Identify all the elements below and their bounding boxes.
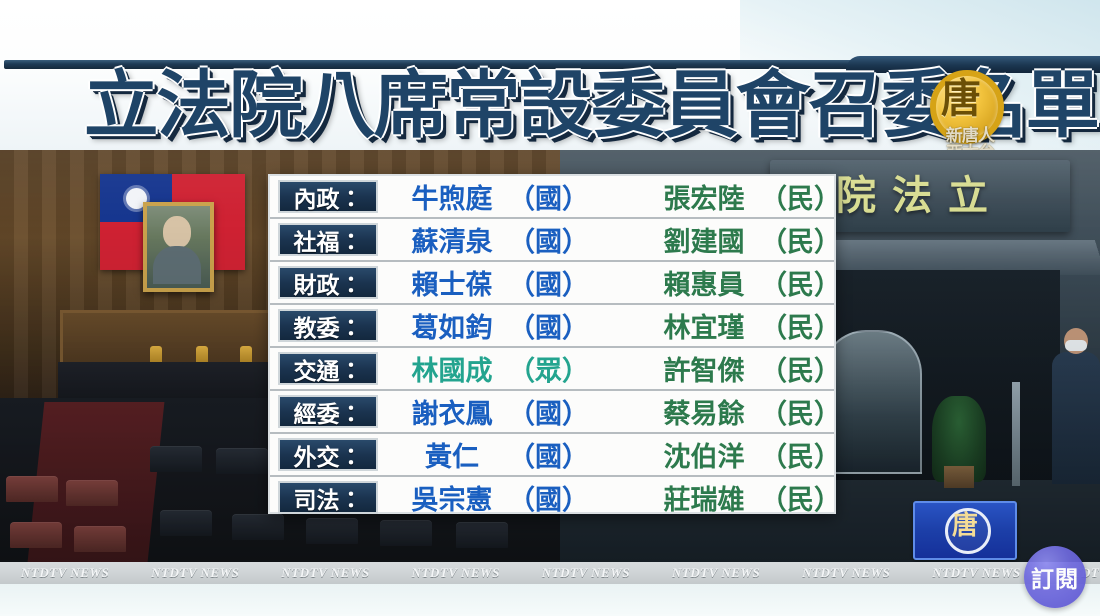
convener-party: （民）: [760, 392, 841, 431]
portrait-body: [153, 246, 201, 284]
convener-name: 張宏陸: [648, 177, 760, 216]
ticker-watermark: NTDTV NEWS: [391, 565, 521, 581]
sun-yat-sen-portrait: [143, 202, 214, 292]
convener-party: （民）: [760, 306, 841, 345]
entrance-plant-pot: [944, 466, 974, 488]
page-title: 立法院八席常設委員會召委名單: [84, 62, 1002, 150]
convener-cell-primary: 蘇清泉 （國）: [396, 220, 648, 259]
row-names: 林國成 （眾） 許智傑 （民）: [378, 349, 841, 388]
ticker-strip: NTDTV NEWSNTDTV NEWSNTDTV NEWSNTDTV NEWS…: [0, 565, 1100, 581]
convener-name: 黃仁: [396, 435, 508, 474]
convener-name: 牛煦庭: [396, 177, 508, 216]
footer-band: [0, 584, 1100, 616]
row-names: 蘇清泉 （國） 劉建國 （民）: [378, 220, 841, 259]
convener-party: （民）: [760, 478, 841, 517]
convener-party: （國）: [508, 392, 589, 431]
convener-name: 賴惠員: [648, 263, 760, 302]
committee-label: 外交：: [278, 438, 378, 471]
ticker-watermark: NTDTV NEWS: [781, 565, 911, 581]
ticker-watermark: NTDTV NEWS: [521, 565, 651, 581]
convener-name: 沈伯洋: [648, 435, 760, 474]
convener-name: 賴士葆: [396, 263, 508, 302]
guard-body: [1052, 352, 1100, 484]
convener-party: （國）: [508, 306, 589, 345]
channel-bug: 唐: [913, 501, 1017, 560]
convener-party: （國）: [508, 478, 589, 517]
convener-name: 莊瑞雄: [648, 478, 760, 517]
table-row: 經委： 謝衣鳳 （國） 蔡易餘 （民）: [270, 391, 834, 434]
convener-cell-primary: 黃仁 （國）: [396, 435, 648, 474]
chamber-seat: [160, 510, 212, 536]
committee-label: 財政：: [278, 266, 378, 299]
convener-cell-primary: 林國成 （眾）: [396, 349, 648, 388]
row-names: 謝衣鳳 （國） 蔡易餘 （民）: [378, 392, 841, 431]
committee-label: 司法：: [278, 481, 378, 514]
chamber-seat: [456, 522, 508, 548]
ticker-watermark: NTDTV NEWS: [651, 565, 781, 581]
convener-party: （民）: [760, 220, 841, 259]
convener-cell-secondary: 林宜瑾 （民）: [648, 306, 841, 345]
chamber-seat: [10, 522, 62, 548]
ntd-channel-logo: 唐 新唐人 亞太台: [925, 70, 1011, 152]
convener-name: 蘇清泉: [396, 220, 508, 259]
chamber-seat: [74, 526, 126, 552]
chamber-seat: [306, 518, 358, 544]
chamber-seat: [66, 480, 118, 506]
convener-cell-secondary: 許智傑 （民）: [648, 349, 841, 388]
convener-party: （民）: [760, 263, 841, 302]
table-row: 財政： 賴士葆 （國） 賴惠員 （民）: [270, 262, 834, 305]
convener-party: （民）: [760, 177, 841, 216]
guard-face-mask: [1065, 340, 1087, 351]
convener-name: 林宜瑾: [648, 306, 760, 345]
ntd-logo-subtitle: 新唐人 亞太台: [925, 127, 1016, 152]
convener-party: （國）: [508, 263, 589, 302]
convener-cell-secondary: 賴惠員 （民）: [648, 263, 841, 302]
convener-cell-secondary: 沈伯洋 （民）: [648, 435, 841, 474]
row-names: 葛如鈞 （國） 林宜瑾 （民）: [378, 306, 841, 345]
ticker-watermark: NTDTV NEWS: [911, 565, 1041, 581]
table-row: 司法： 吳宗憲 （國） 莊瑞雄 （民）: [270, 477, 834, 518]
table-row: 社福： 蘇清泉 （國） 劉建國 （民）: [270, 219, 834, 262]
chamber-seat: [150, 446, 202, 472]
convener-party: （國）: [508, 220, 589, 259]
chamber-seat: [380, 520, 432, 546]
convener-cell-primary: 牛煦庭 （國）: [396, 177, 648, 216]
portrait-head: [163, 216, 191, 248]
convener-cell-primary: 葛如鈞 （國）: [396, 306, 648, 345]
committee-label: 交通：: [278, 352, 378, 385]
table-row: 教委： 葛如鈞 （國） 林宜瑾 （民）: [270, 305, 834, 348]
convener-cell-primary: 吳宗憲 （國）: [396, 478, 648, 517]
entrance-railing: [1012, 382, 1020, 486]
ticker-watermark: NTDTV NEWS: [260, 565, 390, 581]
convener-cell-secondary: 莊瑞雄 （民）: [648, 478, 841, 517]
committee-label: 社福：: [278, 223, 378, 256]
row-names: 牛煦庭 （國） 張宏陸 （民）: [378, 177, 841, 216]
committee-label: 內政：: [278, 180, 378, 213]
header-band: 立法院八席常設委員會召委名單 唐 新唐人 亞太台: [0, 0, 1100, 152]
subscribe-button[interactable]: 訂閱: [1024, 546, 1086, 608]
chamber-seat: [6, 476, 58, 502]
convener-cell-secondary: 蔡易餘 （民）: [648, 392, 841, 431]
committee-label: 經委：: [278, 395, 378, 428]
row-names: 賴士葆 （國） 賴惠員 （民）: [378, 263, 841, 302]
row-names: 吳宗憲 （國） 莊瑞雄 （民）: [378, 478, 841, 517]
committee-convener-list-panel: 內政： 牛煦庭 （國） 張宏陸 （民） 社福： 蘇清泉 （國）: [268, 174, 836, 514]
convener-cell-primary: 謝衣鳳 （國）: [396, 392, 648, 431]
ntd-bug-glyph: 唐: [947, 508, 983, 544]
news-graphic-screen: 立法院八席常設委員會召委名單 唐 新唐人 亞太台: [0, 0, 1100, 616]
convener-name: 蔡易餘: [648, 392, 760, 431]
table-row: 外交： 黃仁 （國） 沈伯洋 （民）: [270, 434, 834, 477]
convener-party: （眾）: [508, 349, 589, 388]
convener-cell-secondary: 劉建國 （民）: [648, 220, 841, 259]
convener-name: 吳宗憲: [396, 478, 508, 517]
chamber-seat: [216, 448, 268, 474]
convener-name: 謝衣鳳: [396, 392, 508, 431]
table-row: 交通： 林國成 （眾） 許智傑 （民）: [270, 348, 834, 391]
row-names: 黃仁 （國） 沈伯洋 （民）: [378, 435, 841, 474]
security-guard: [1052, 328, 1100, 484]
convener-name: 林國成: [396, 349, 508, 388]
ticker-watermark: NTDTV NEWS: [130, 565, 260, 581]
convener-cell-primary: 賴士葆 （國）: [396, 263, 648, 302]
convener-name: 許智傑: [648, 349, 760, 388]
watermark-ticker: NTDTV NEWSNTDTV NEWSNTDTV NEWSNTDTV NEWS…: [0, 562, 1100, 584]
committee-label: 教委：: [278, 309, 378, 342]
convener-name: 劉建國: [648, 220, 760, 259]
ntd-tang-glyph: 唐: [936, 74, 986, 124]
convener-party: （國）: [508, 435, 589, 474]
convener-party: （國）: [508, 177, 589, 216]
convener-cell-secondary: 張宏陸 （民）: [648, 177, 841, 216]
ntd-bug-seal-icon: 唐: [945, 508, 991, 554]
convener-name: 葛如鈞: [396, 306, 508, 345]
convener-party: （民）: [760, 349, 841, 388]
ticker-watermark: NTDTV NEWS: [0, 565, 130, 581]
table-row: 內政： 牛煦庭 （國） 張宏陸 （民）: [270, 176, 834, 219]
convener-party: （民）: [760, 435, 841, 474]
